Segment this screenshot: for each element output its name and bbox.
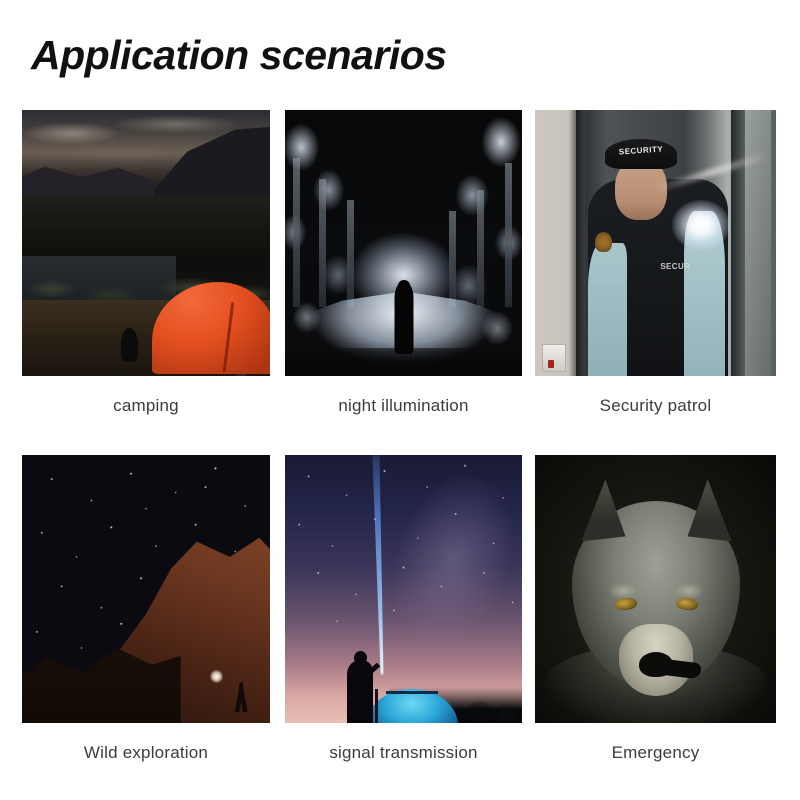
wolf-brow-right bbox=[674, 583, 704, 599]
scenario-card-night-illumination[interactable]: night illumination bbox=[285, 110, 522, 414]
tree-trunk bbox=[293, 158, 300, 307]
tree-trunk bbox=[505, 163, 512, 307]
wolf-eye-left bbox=[615, 597, 638, 611]
door-glass bbox=[745, 110, 772, 376]
tree-trunk bbox=[319, 179, 326, 307]
scenario-caption: Emergency bbox=[535, 744, 776, 761]
scenario-card-emergency[interactable]: Emergency bbox=[535, 455, 776, 761]
wolf-brow-left bbox=[608, 583, 638, 599]
camper-silhouette bbox=[121, 328, 138, 362]
scenario-grid: camping night illumination bbox=[0, 110, 800, 800]
person-head bbox=[354, 651, 367, 665]
tree-trunk bbox=[477, 190, 484, 307]
guard-sleeve-left bbox=[588, 243, 627, 376]
post bbox=[375, 689, 378, 723]
scenario-card-security-patrol[interactable]: SECURITY SECUR Security patrol bbox=[535, 110, 776, 414]
wolf-ear-right bbox=[688, 479, 736, 541]
scenario-caption: signal transmission bbox=[285, 744, 522, 761]
scenario-card-camping[interactable]: camping bbox=[22, 110, 270, 414]
walker-head bbox=[397, 280, 410, 294]
flashlight-source bbox=[210, 670, 223, 683]
wolf-head bbox=[572, 501, 740, 687]
shoulder-patch bbox=[595, 232, 612, 252]
tree-trunk bbox=[449, 211, 456, 307]
scenario-caption: Security patrol bbox=[535, 397, 776, 414]
signal-transmission-photo bbox=[285, 455, 522, 723]
page-title: Application scenarios bbox=[31, 32, 447, 79]
door-frame-right bbox=[731, 110, 745, 376]
night-illumination-photo bbox=[285, 110, 522, 376]
camping-photo bbox=[22, 110, 270, 376]
tree-trunk bbox=[347, 200, 354, 306]
scenario-caption: Wild exploration bbox=[22, 744, 270, 761]
scenario-caption: night illumination bbox=[285, 397, 522, 414]
scenario-caption: camping bbox=[22, 397, 270, 414]
scenario-card-wild-exploration[interactable]: Wild exploration bbox=[22, 455, 270, 761]
vest-label: SECUR bbox=[660, 262, 690, 271]
scenario-row-2: Wild exploration signal transmission bbox=[0, 455, 800, 800]
scenario-row-1: camping night illumination bbox=[0, 110, 800, 455]
security-patrol-photo: SECURITY SECUR bbox=[535, 110, 776, 376]
door-frame-left bbox=[576, 110, 585, 376]
scenario-card-signal-transmission[interactable]: signal transmission bbox=[285, 455, 522, 761]
wolf-ear-left bbox=[578, 479, 626, 541]
mid-ridge bbox=[22, 196, 270, 256]
wolf-nose bbox=[639, 652, 673, 677]
wild-exploration-photo bbox=[22, 455, 270, 723]
sensor-led bbox=[548, 360, 554, 368]
wall-sensor bbox=[542, 344, 566, 372]
emergency-photo bbox=[535, 455, 776, 723]
